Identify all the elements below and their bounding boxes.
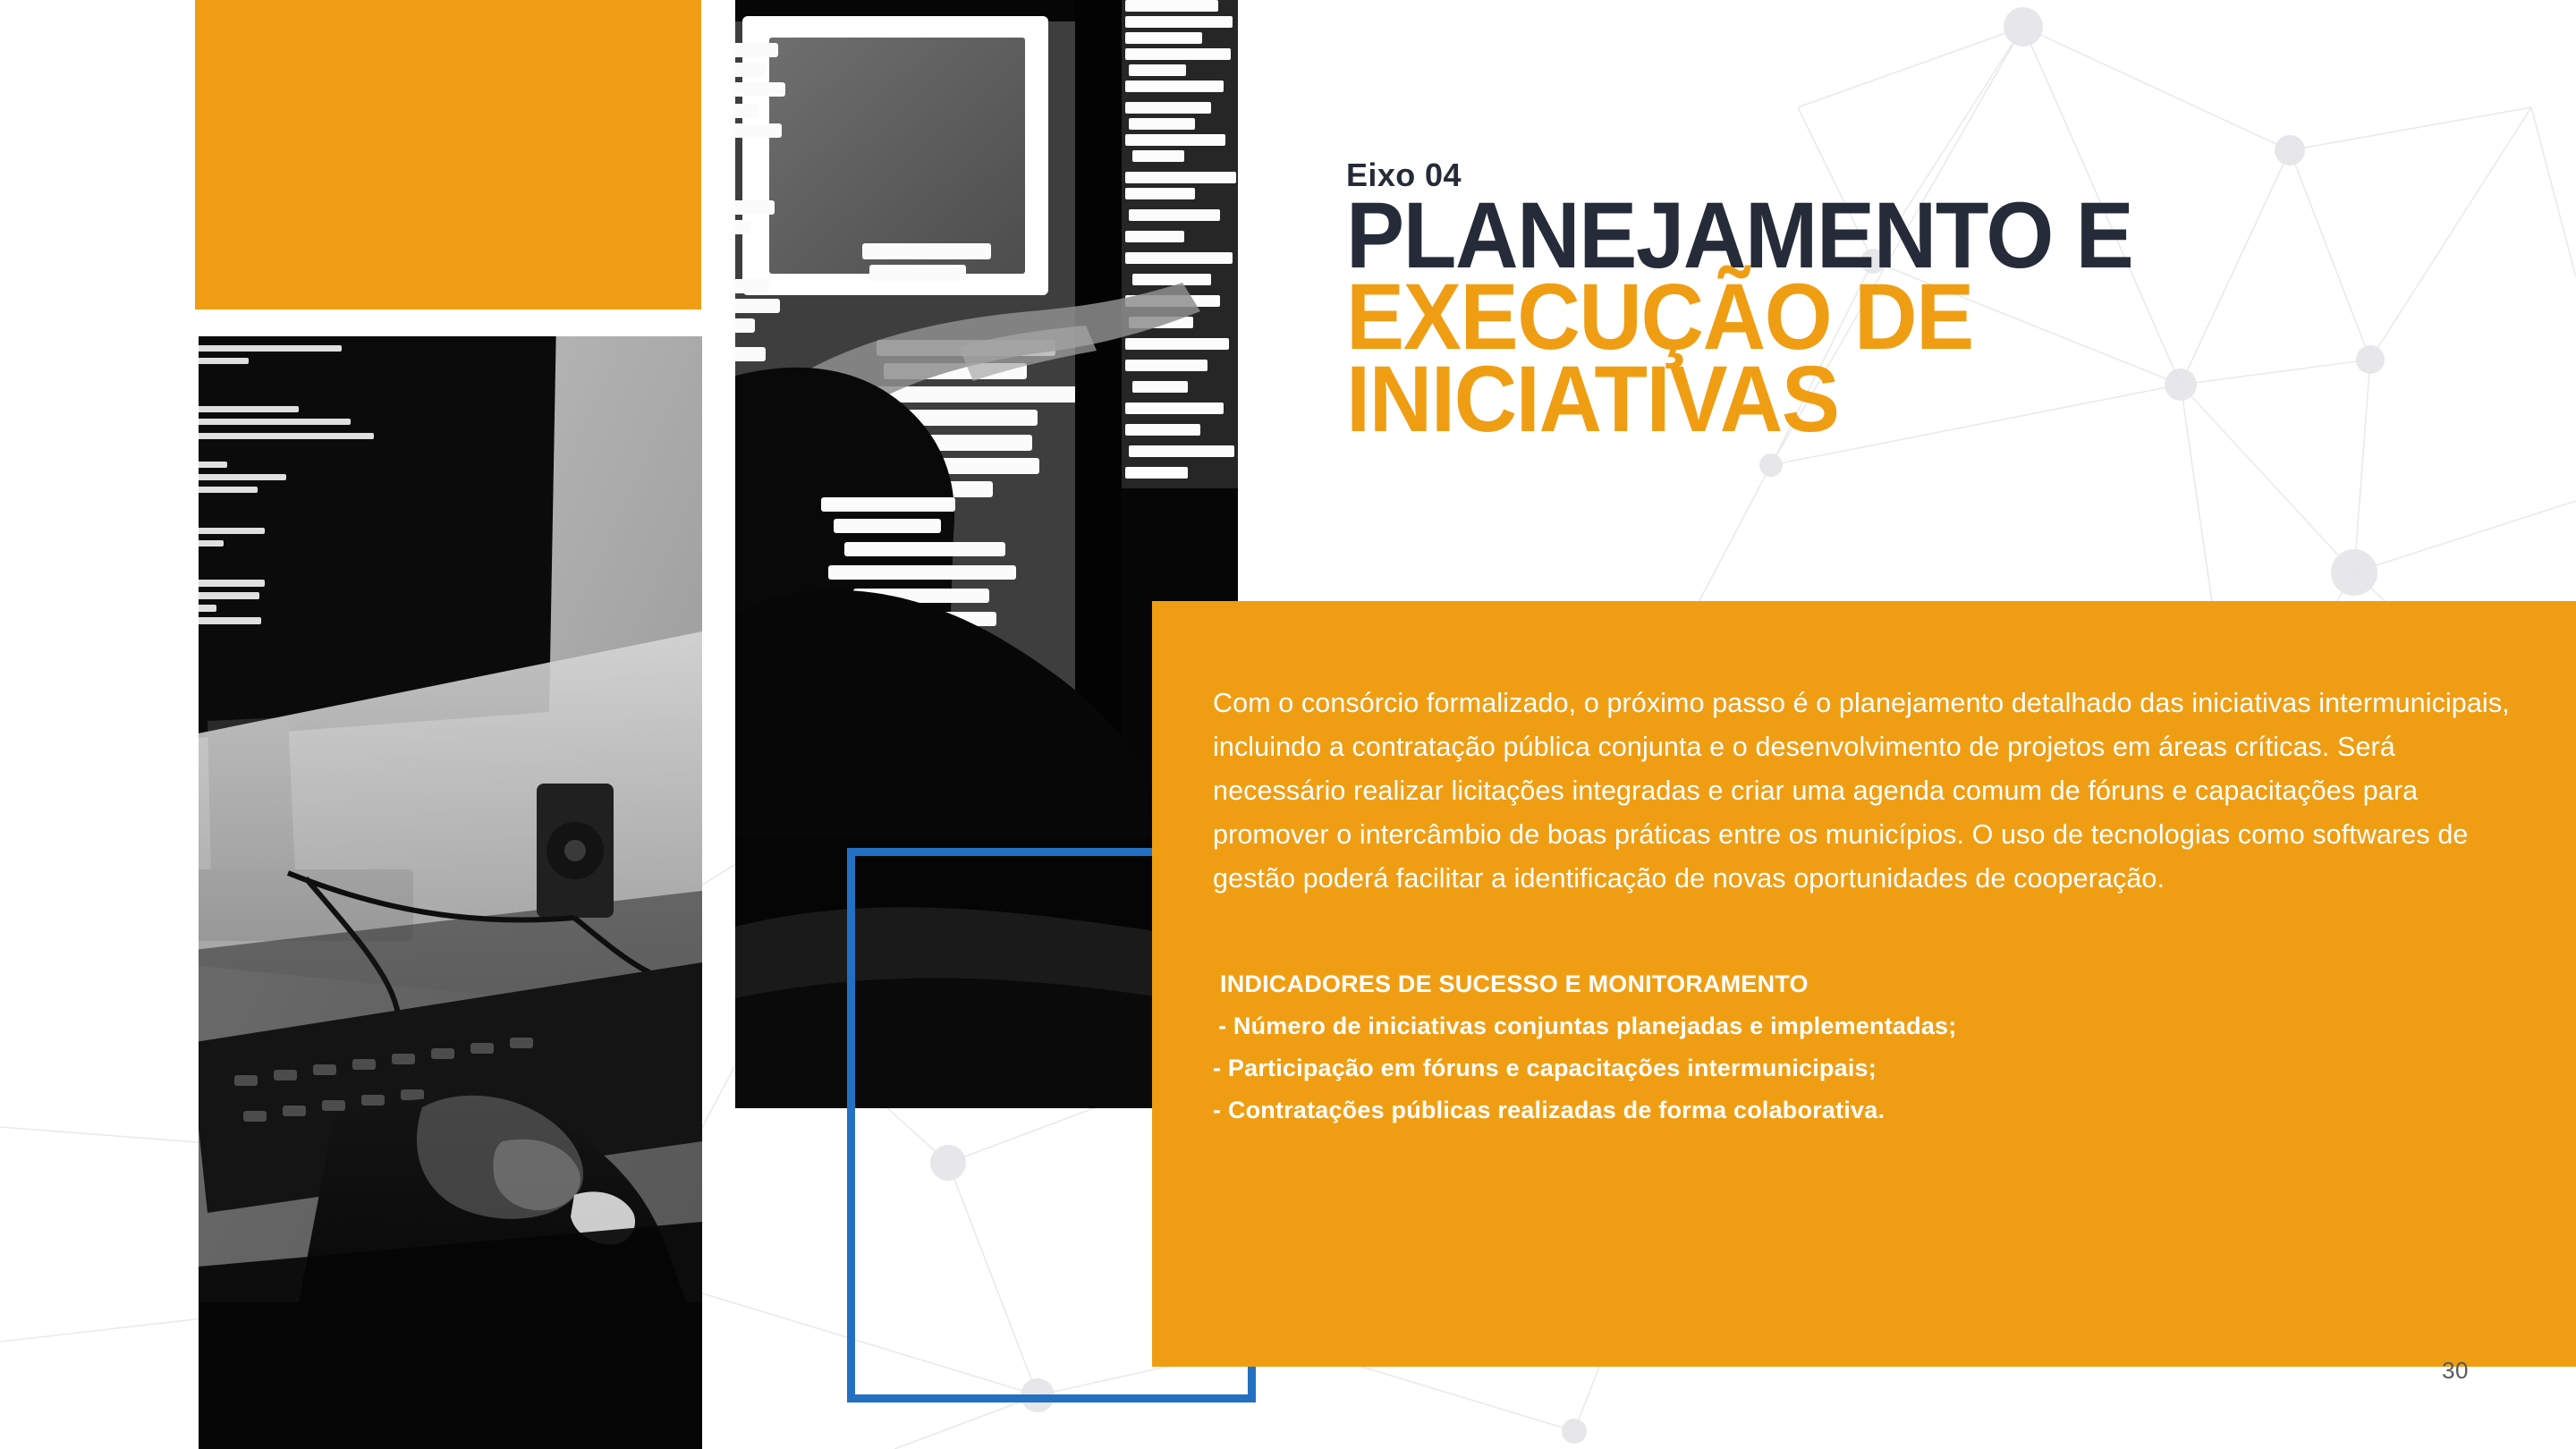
indicator-item-1: - Número de iniciativas conjuntas planej… [1213,1009,2510,1043]
title-line-2: EXECUÇÃO DE [1346,276,2132,358]
page-title: PLANEJAMENTO E EXECUÇÃO DE INICIATIVAS [1346,195,2132,440]
indicators-title: INDICADORES DE SUCESSO E MONITORAMENTO [1213,967,2510,1001]
indicators-list: INDICADORES DE SUCESSO E MONITORAMENTO -… [1213,967,2510,1127]
decorative-orange-block [195,0,701,309]
photo-desk-monitor-keyboard [199,336,702,1449]
indicator-item-3: - Contratações públicas realizadas de fo… [1213,1093,2510,1127]
panel-body: Com o consórcio formalizado, o próximo p… [1213,682,2510,1127]
title-line-3: INICIATIVAS [1346,359,2132,440]
panel-paragraph: Com o consórcio formalizado, o próximo p… [1213,682,2510,901]
orange-content-panel: Com o consórcio formalizado, o próximo p… [1152,601,2576,1367]
slide-root: Eixo 04 PLANEJAMENTO E EXECUÇÃO DE INICI… [0,0,2576,1449]
indicator-item-2: - Participação em fóruns e capacitações … [1213,1051,2510,1085]
page-number: 30 [2442,1357,2469,1385]
title-block: Eixo 04 PLANEJAMENTO E EXECUÇÃO DE INICI… [1346,159,2192,440]
